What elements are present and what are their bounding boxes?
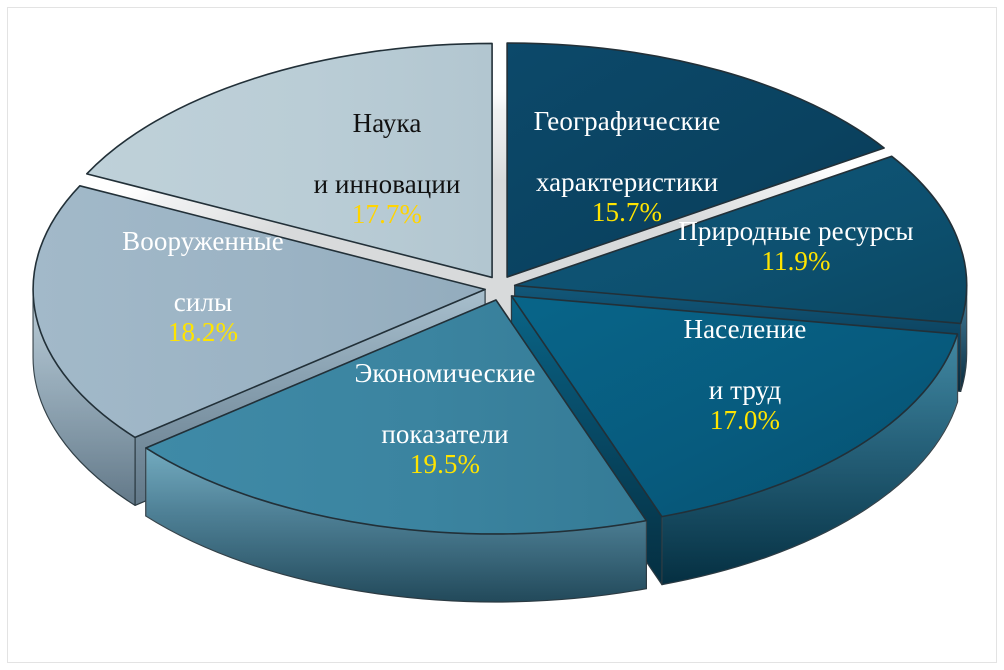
pie-chart-graphic <box>0 0 1004 670</box>
chart-canvas: Географические характеристики 15.7% Прир… <box>0 0 1004 670</box>
